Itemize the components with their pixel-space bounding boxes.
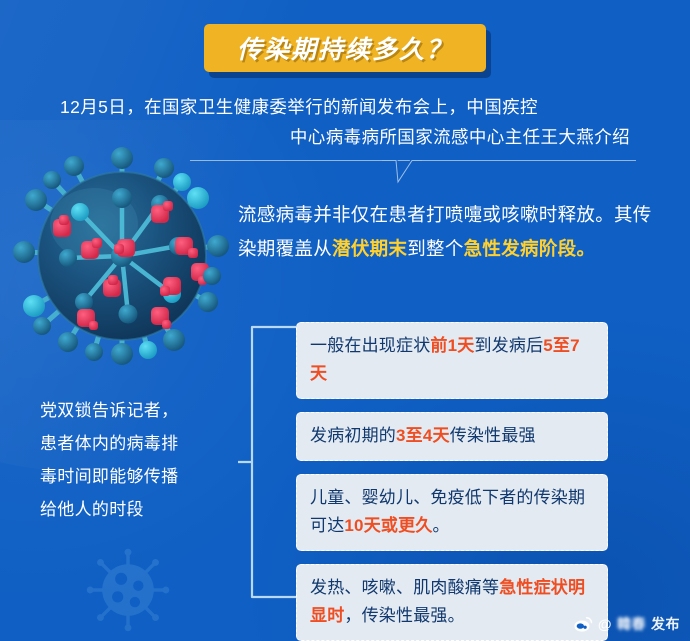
fact-card-list: 一般在出现症状前1天到发病后5至7天 发病初期的3至4天传染性最强 儿童、婴幼儿… bbox=[296, 322, 608, 641]
bracket-connector-icon bbox=[238, 324, 300, 600]
left-caption-text: 党双锁告诉记者， 患者体内的病毒排 毒时间即能够传播 给他人的时段 bbox=[40, 394, 240, 526]
weibo-icon bbox=[574, 616, 593, 633]
body-highlight-2: 急性发病阶段 bbox=[464, 238, 577, 259]
card-1-part-0: 发病初期的 bbox=[310, 426, 396, 445]
fact-card-onset-window: 一般在出现症状前1天到发病后5至7天 bbox=[296, 322, 608, 399]
body-paragraph: 流感病毒并非仅在患者打喷嚏或咳嗽时释放。其传染期覆盖从潜伏期末到整个急性发病阶段… bbox=[238, 198, 658, 266]
card-0-part-2: 到发病后 bbox=[474, 336, 543, 355]
virus-watermark-icon bbox=[85, 547, 171, 633]
page-title: 传染期持续多久？ bbox=[237, 30, 453, 66]
body-highlight-1: 潜伏期末 bbox=[332, 238, 407, 259]
weibo-account-obscured: 韓春 bbox=[617, 614, 646, 634]
card-0-part-0: 一般在出现症状 bbox=[310, 336, 430, 355]
title-banner: 传染期持续多久？ bbox=[0, 24, 690, 72]
card-3-part-2: ，传染性最强。 bbox=[344, 606, 464, 625]
left-caption-line-3: 毒时间即能够传播 bbox=[40, 460, 240, 493]
influenza-virus-illustration bbox=[8, 142, 236, 370]
weibo-watermark: @韓春发布 bbox=[574, 614, 680, 634]
card-2-part-1: 10天或更久 bbox=[344, 516, 432, 535]
card-1-part-2: 传染性最强 bbox=[450, 426, 536, 445]
title-badge: 传染期持续多久？ bbox=[204, 24, 486, 72]
infographic-poster: 传染期持续多久？ 12月5日，在国家卫生健康委举行的新闻发布会上，中国疾控 中心… bbox=[0, 0, 690, 641]
fact-card-peak-infectivity: 发病初期的3至4天传染性最强 bbox=[296, 412, 608, 461]
card-0-part-1: 前1天 bbox=[430, 336, 474, 355]
fact-card-vulnerable-groups: 儿童、婴幼儿、免疫低下者的传染期可达10天或更久。 bbox=[296, 474, 608, 551]
weibo-at-symbol: @ bbox=[598, 616, 612, 632]
card-3-part-0: 发热、咳嗽、肌肉酸痛等 bbox=[310, 578, 499, 597]
speech-bubble-notch-icon bbox=[382, 160, 422, 184]
card-1-part-1: 3至4天 bbox=[396, 426, 450, 445]
card-2-part-2: 。 bbox=[433, 516, 450, 535]
intro-line-1: 12月5日，在国家卫生健康委举行的新闻发布会上，中国疾控 bbox=[60, 92, 636, 122]
weibo-account-suffix: 发布 bbox=[651, 614, 680, 634]
left-caption-line-2: 患者体内的病毒排 bbox=[40, 427, 240, 460]
left-caption-line-1: 党双锁告诉记者， bbox=[40, 394, 240, 427]
left-caption-line-4: 给他人的时段 bbox=[40, 493, 240, 526]
fact-card-acute-symptoms: 发热、咳嗽、肌肉酸痛等急性症状明显时，传染性最强。 bbox=[296, 564, 608, 641]
body-seg-2: 到整个 bbox=[407, 238, 463, 259]
body-seg-3: 。 bbox=[576, 238, 595, 259]
